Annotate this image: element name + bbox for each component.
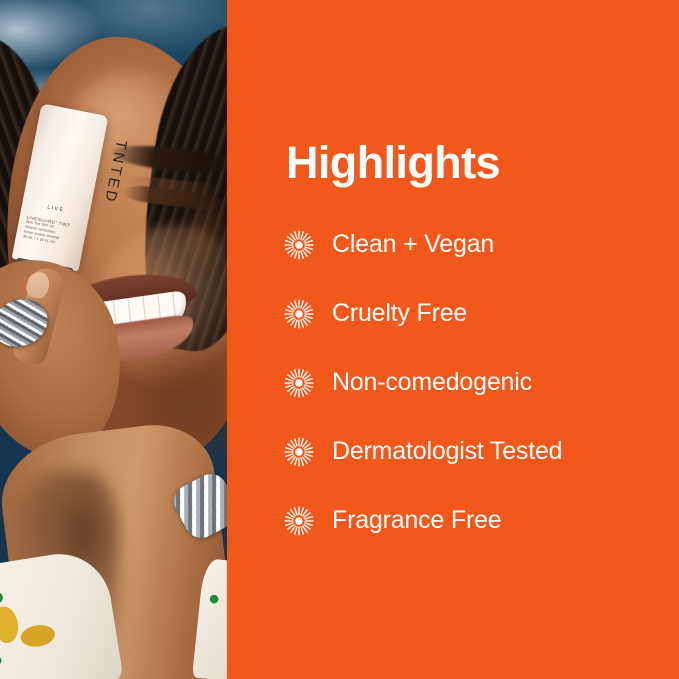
forearm-shadow [0,470,120,679]
forearm [0,418,227,679]
tube-fineprint-line-5: 30 mL / 1.35 FL OZ [22,234,76,249]
list-item-label: Non-comedogenic [332,369,532,397]
list-item: Non-comedogenic [284,360,674,405]
cheek-highlight [95,225,227,390]
sunburst-icon [284,437,314,467]
highlights-list: Clean + VeganCruelty FreeNon-comedogenic… [284,222,674,567]
lower-lip [73,313,197,367]
fingernail [24,270,52,301]
upper-lip [55,267,198,320]
eyebrow [111,142,227,176]
tube-body: TNTED LIVE LIVEGUARD° TINT Skin Tint SPF… [12,103,109,271]
list-item: Dermatologist Tested [284,429,674,474]
smile [55,267,206,372]
nose-shadow [186,205,227,275]
forehead-highlight [70,70,190,180]
closed-eye [121,184,227,213]
tube-fineprint-line-4: écran solaire minéral [23,229,77,244]
list-item: Clean + Vegan [284,222,674,267]
braided-hair-right [128,15,227,358]
tube-fineprint-line-1: LIVEGUARD° TINT [26,215,80,230]
highlights-panel: Highlights Clean + VeganCruelty FreeNon-… [227,0,679,679]
tube-cap [8,257,74,313]
tube-fineprint-line-3: mineral sunscreen [24,224,78,239]
patterned-shirt-left [0,547,124,679]
jaw-shadow [120,330,227,480]
hand [0,245,139,472]
silver-ring [0,292,54,354]
teeth [70,290,189,336]
list-item-label: Fragrance Free [332,507,502,535]
product-highlights-banner: TNTED LIVE LIVEGUARD° TINT Skin Tint SPF… [0,0,679,679]
mouth-interior [79,313,184,339]
sunburst-icon [284,230,314,260]
patterned-shirt-right [192,558,227,679]
tube-subbrand-text: LIVE [22,200,90,219]
finger [11,265,67,366]
list-item-label: Dermatologist Tested [332,438,562,466]
list-item: Cruelty Free [284,291,674,336]
product-tube: TNTED LIVE LIVEGUARD° TINT Skin Tint SPF… [4,103,109,312]
list-item-label: Cruelty Free [332,300,467,328]
eye-crease [126,174,225,198]
braided-hair-left [0,28,86,340]
silver-bracelet [168,468,227,544]
model-head [0,24,227,478]
tube-fineprint-line-2: Skin Tint SPF 40 [25,220,79,235]
tube-fineprint: LIVEGUARD° TINT Skin Tint SPF 40 mineral… [22,215,80,250]
sky-background [0,0,227,300]
photo-grain-overlay [0,0,227,679]
page-title: Highlights [286,140,500,185]
tube-brand-text: TNTED [50,122,132,212]
list-item-label: Clean + Vegan [332,231,494,259]
list-item: Fragrance Free [284,498,674,543]
sunburst-icon [284,299,314,329]
sunburst-icon [284,506,314,536]
lifestyle-photo: TNTED LIVE LIVEGUARD° TINT Skin Tint SPF… [0,0,227,679]
sunburst-icon [284,368,314,398]
